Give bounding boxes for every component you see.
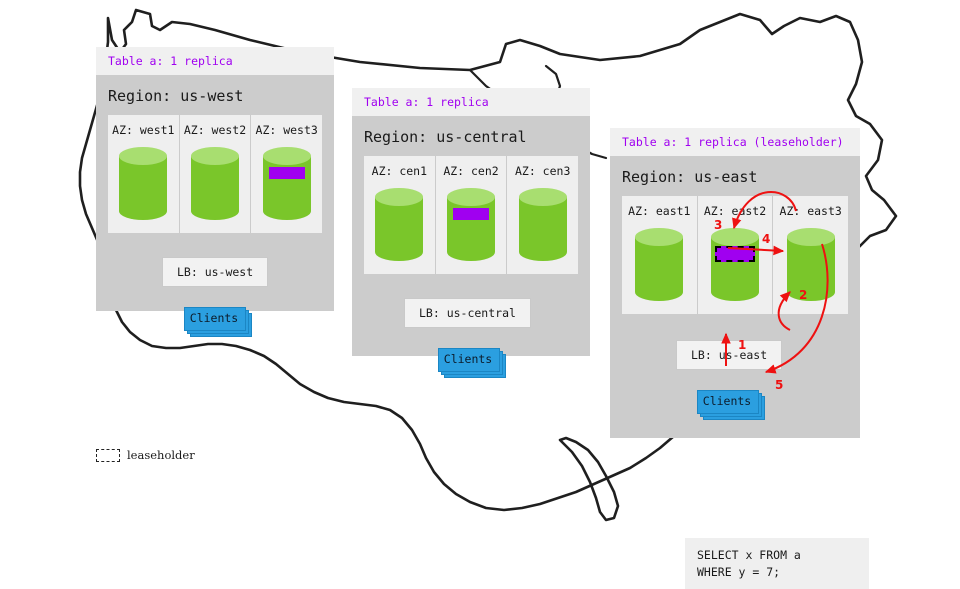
az-panel-cen2[interactable]: AZ: cen2 [436, 156, 508, 274]
region-body-us-west: Region: us-west AZ: west1 AZ: west2 [96, 75, 334, 311]
az-label-east2: AZ: east2 [704, 204, 766, 218]
clients-box-us-central[interactable]: Clients [438, 348, 498, 370]
cylinder-top [635, 228, 683, 246]
flow-step-number-1: 1 [738, 338, 746, 352]
az-row-us-central: AZ: cen1 AZ: cen2 [364, 156, 578, 274]
az-label-cen1: AZ: cen1 [372, 164, 427, 178]
cylinder-top [787, 228, 835, 246]
node-cylinder-east3[interactable] [787, 228, 835, 300]
flow-step-number-3: 3 [714, 218, 722, 232]
cylinder-top [519, 188, 567, 206]
node-cylinder-cen2[interactable] [447, 188, 495, 260]
sql-query-box: SELECT x FROM a WHERE y = 7; [685, 538, 869, 589]
load-balancer-us-west[interactable]: LB: us-west [162, 257, 268, 287]
region-header-us-west: Table a: 1 replica [96, 47, 334, 75]
az-label-west1: AZ: west1 [112, 123, 174, 137]
az-label-west3: AZ: west3 [256, 123, 318, 137]
az-label-west2: AZ: west2 [184, 123, 246, 137]
az-label-east1: AZ: east1 [628, 204, 690, 218]
az-panel-west3[interactable]: AZ: west3 [251, 115, 322, 233]
leaseholder-replica-marker-east2 [715, 246, 755, 262]
node-cylinder-west3[interactable] [263, 147, 311, 219]
region-body-us-east: Region: us-east AZ: east1 AZ: east2 [610, 156, 860, 438]
clients-box-us-east[interactable]: Clients [697, 390, 757, 412]
clients-label: Clients [184, 307, 244, 329]
az-label-cen2: AZ: cen2 [443, 164, 498, 178]
clients-label: Clients [697, 390, 757, 412]
az-panel-east1[interactable]: AZ: east1 [622, 196, 698, 314]
region-title-us-central: Region: us-central [352, 116, 590, 156]
region-body-us-central: Region: us-central AZ: cen1 AZ: cen2 [352, 116, 590, 356]
az-label-cen3: AZ: cen3 [515, 164, 570, 178]
flow-step-number-4: 4 [762, 232, 770, 246]
az-panel-west2[interactable]: AZ: west2 [180, 115, 252, 233]
region-header-us-central: Table a: 1 replica [352, 88, 590, 116]
node-cylinder-west1[interactable] [119, 147, 167, 219]
cylinder-top [119, 147, 167, 165]
clients-label: Clients [438, 348, 498, 370]
cylinder-top [191, 147, 239, 165]
node-cylinder-cen3[interactable] [519, 188, 567, 260]
az-panel-cen3[interactable]: AZ: cen3 [507, 156, 578, 274]
node-cylinder-cen1[interactable] [375, 188, 423, 260]
az-panel-west1[interactable]: AZ: west1 [108, 115, 180, 233]
node-cylinder-east1[interactable] [635, 228, 683, 300]
load-balancer-us-east[interactable]: LB: us-east [676, 340, 782, 370]
flow-step-number-2: 2 [799, 288, 807, 302]
az-panel-east2[interactable]: AZ: east2 [698, 196, 774, 314]
diagram-canvas: Table a: 1 replica Region: us-west AZ: w… [0, 0, 960, 540]
legend: leaseholder [96, 448, 195, 462]
replica-marker-west3 [269, 167, 305, 179]
node-cylinder-east2[interactable] [711, 228, 759, 300]
cylinder-top [375, 188, 423, 206]
region-card-us-central: Table a: 1 replica Region: us-central AZ… [352, 88, 590, 356]
az-panel-east3[interactable]: AZ: east3 [773, 196, 848, 314]
az-label-east3: AZ: east3 [780, 204, 842, 218]
az-row-us-west: AZ: west1 AZ: west2 AZ [108, 115, 322, 233]
region-title-us-east: Region: us-east [610, 156, 860, 196]
clients-box-us-west[interactable]: Clients [184, 307, 244, 329]
flow-step-number-5: 5 [775, 378, 783, 392]
dashed-rect-icon [96, 449, 120, 462]
load-balancer-us-central[interactable]: LB: us-central [404, 298, 531, 328]
legend-label: leaseholder [127, 448, 195, 462]
region-title-us-west: Region: us-west [96, 75, 334, 115]
az-row-us-east: AZ: east1 AZ: east2 [622, 196, 848, 314]
node-cylinder-west2[interactable] [191, 147, 239, 219]
cylinder-top [447, 188, 495, 206]
az-panel-cen1[interactable]: AZ: cen1 [364, 156, 436, 274]
replica-marker-cen2 [453, 208, 489, 220]
region-card-us-east: Table a: 1 replica (leaseholder) Region:… [610, 128, 860, 438]
region-card-us-west: Table a: 1 replica Region: us-west AZ: w… [96, 47, 334, 311]
cylinder-top [263, 147, 311, 165]
region-header-us-east: Table a: 1 replica (leaseholder) [610, 128, 860, 156]
